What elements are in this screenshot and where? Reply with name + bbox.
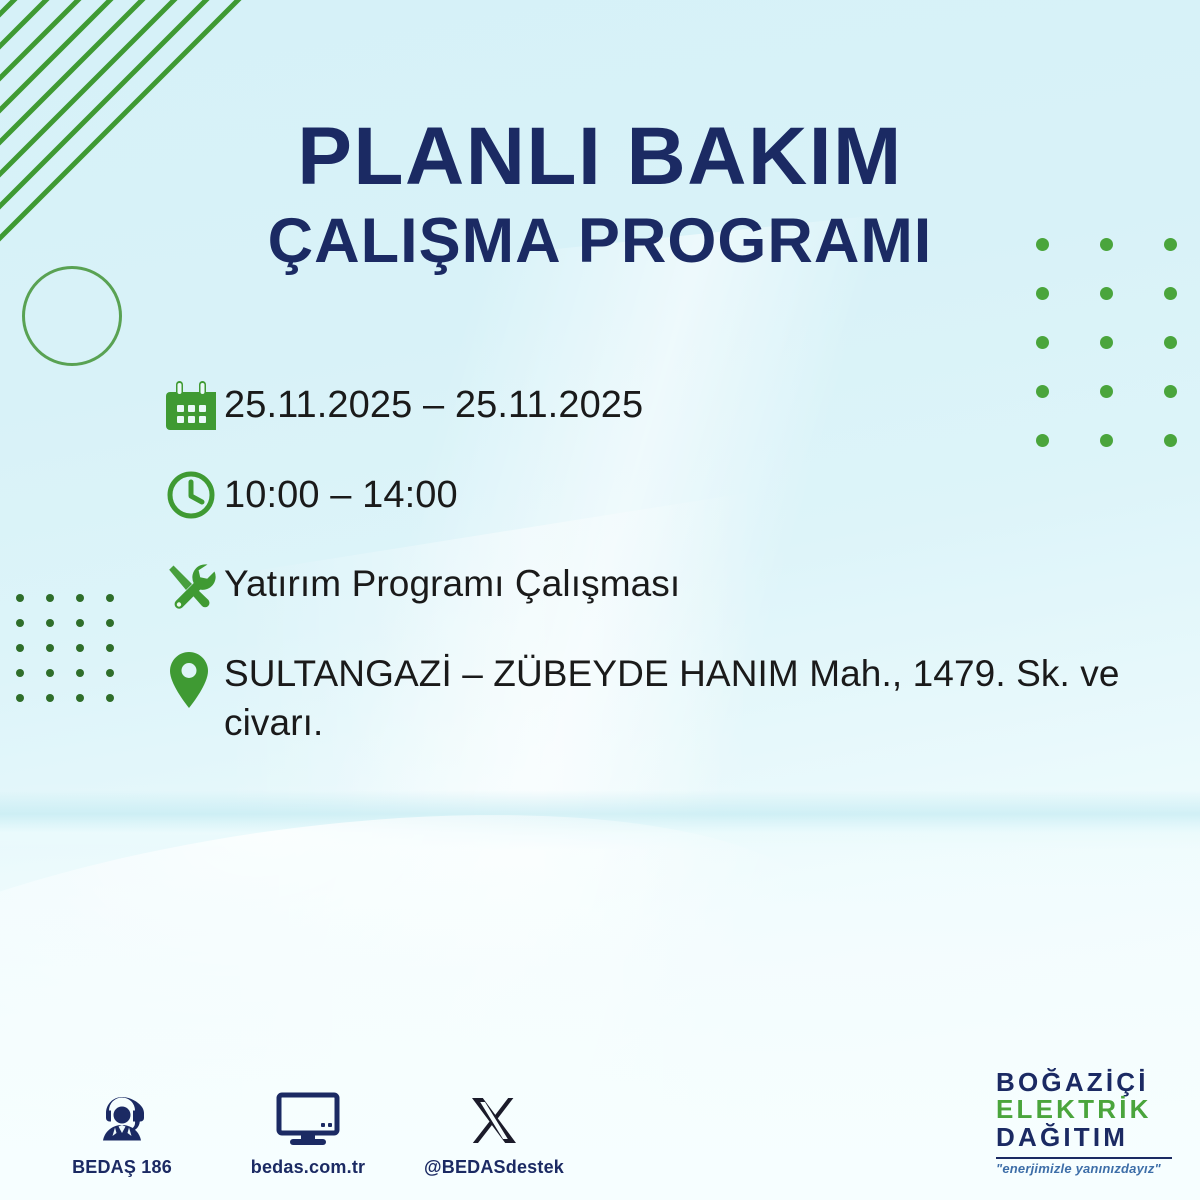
brand-tagline: "enerjimizle yanınızdayız" (996, 1162, 1172, 1176)
contact-label-social-x: @BEDASdestek (424, 1157, 564, 1178)
detail-value-location: SULTANGAZİ – ZÜBEYDE HANIM Mah., 1479. S… (224, 648, 1124, 748)
tools-icon (166, 558, 224, 620)
clock-icon (166, 468, 224, 530)
contact-social-x[interactable]: @BEDASdestek (424, 1088, 564, 1178)
contact-label-call-center: BEDAŞ 186 (52, 1157, 192, 1178)
x-logo-icon (424, 1088, 564, 1148)
brand-logo: BOĞAZİÇİ ELEKTRİK DAĞITIM "enerjimizle y… (996, 1069, 1172, 1176)
headset-operator-icon (52, 1088, 192, 1148)
detail-row-location: SULTANGAZİ – ZÜBEYDE HANIM Mah., 1479. S… (166, 648, 1156, 748)
detail-row-time: 10:00 – 14:00 (166, 468, 1156, 530)
title-main: PLANLI BAKIM (0, 116, 1200, 198)
location-pin-icon (166, 648, 224, 710)
page-title: PLANLI BAKIM ÇALIŞMA PROGRAMI (0, 116, 1200, 273)
monitor-icon (238, 1088, 378, 1148)
detail-value-date: 25.11.2025 – 25.11.2025 (224, 378, 643, 430)
contact-website[interactable]: bedas.com.tr (238, 1088, 378, 1178)
brand-line-dagitim: DAĞITIM (996, 1124, 1172, 1152)
brand-line-bogazici: BOĞAZİÇİ (996, 1069, 1172, 1097)
calendar-icon (166, 378, 224, 440)
planned-maintenance-poster: PLANLI BAKIM ÇALIŞMA PROGRAMI (0, 0, 1200, 1200)
brand-line-elektrik: ELEKTRİK (996, 1096, 1172, 1124)
circle-outline-decoration (22, 266, 122, 366)
footer: BEDAŞ 186 bedas.com.tr (0, 1020, 1200, 1200)
brand-divider (996, 1157, 1172, 1159)
detail-value-time: 10:00 – 14:00 (224, 468, 458, 520)
detail-row-work-type: Yatırım Programı Çalışması (166, 558, 1156, 620)
detail-row-date: 25.11.2025 – 25.11.2025 (166, 378, 1156, 440)
dot-grid-left-decoration (16, 594, 136, 719)
title-sub: ÇALIŞMA PROGRAMI (0, 210, 1200, 273)
background-horizon-band (0, 790, 1200, 850)
detail-value-work-type: Yatırım Programı Çalışması (224, 558, 680, 609)
maintenance-details: 25.11.2025 – 25.11.2025 10:00 – 14:00 (166, 378, 1156, 748)
contact-call-center[interactable]: BEDAŞ 186 (52, 1088, 192, 1178)
contact-label-website: bedas.com.tr (238, 1157, 378, 1178)
contact-list: BEDAŞ 186 bedas.com.tr (52, 1088, 564, 1178)
